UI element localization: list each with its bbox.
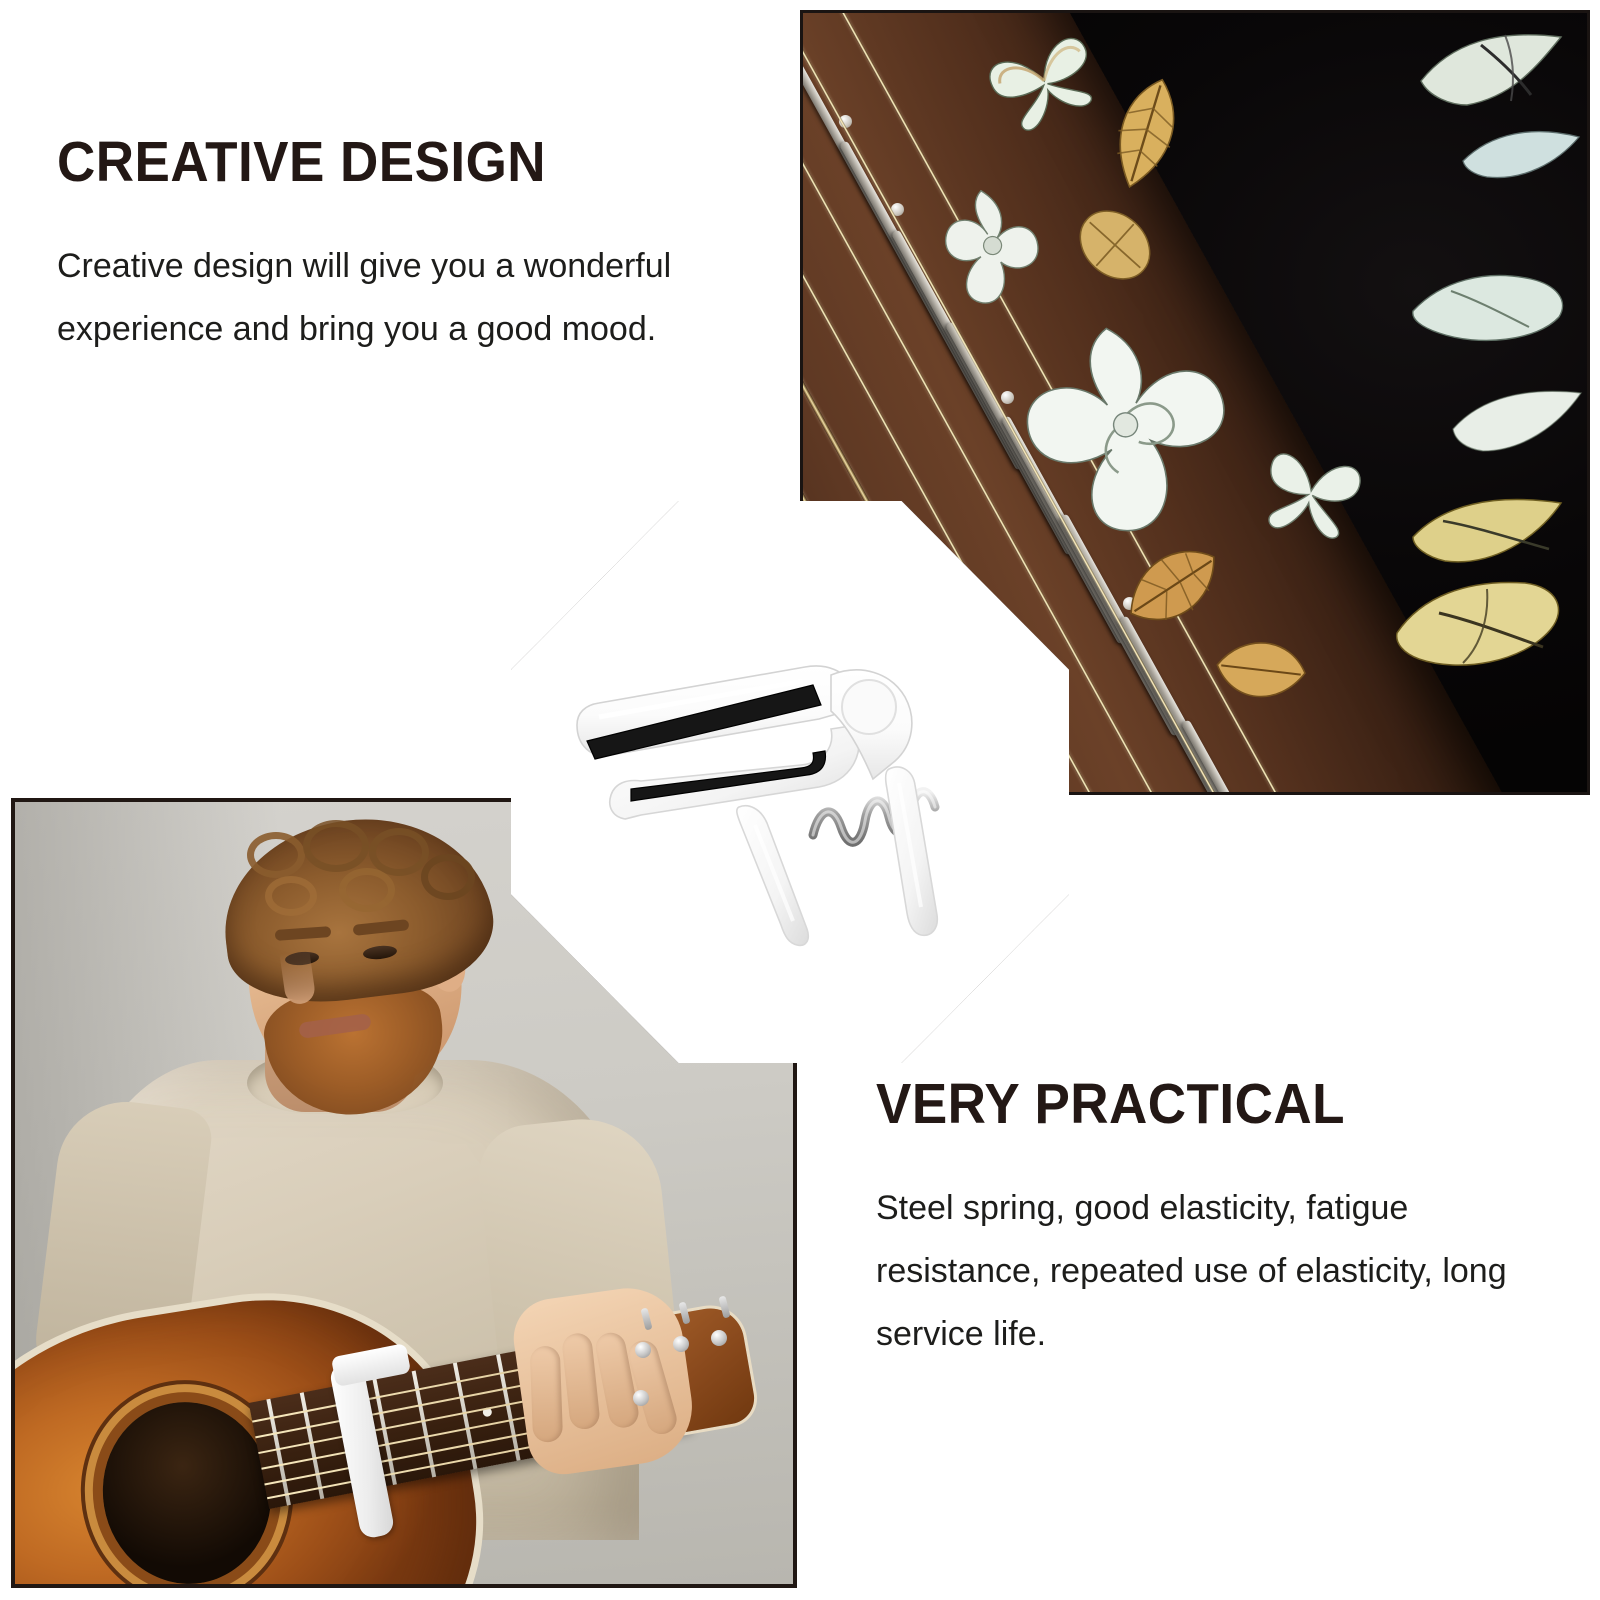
tuning-peg: [633, 1390, 649, 1406]
eye: [284, 951, 319, 967]
fret: [412, 1371, 437, 1478]
finger: [625, 1337, 680, 1438]
fret: [300, 1392, 325, 1499]
guitar-headstock: [604, 1303, 758, 1443]
tuning-machine-post: [718, 1295, 730, 1318]
fret: [1119, 615, 1355, 795]
hair-curl: [247, 832, 305, 878]
butterfly-inlay-sticker: [1248, 423, 1374, 560]
capo-highlight: [899, 783, 921, 907]
tuning-machine-post: [678, 1301, 690, 1324]
fret: [588, 1336, 613, 1443]
acoustic-guitar-body: [11, 1267, 510, 1588]
fret: [1181, 719, 1417, 795]
guitar-string: [258, 1370, 680, 1454]
side-position-dot: [1001, 391, 1014, 404]
fret: [372, 1378, 397, 1485]
fret: [1059, 513, 1295, 795]
head: [229, 829, 477, 1107]
fret: [266, 1399, 291, 1506]
side-position-dot: [1123, 597, 1136, 610]
nose: [280, 950, 317, 1006]
fret: [453, 1363, 478, 1470]
fretting-hand: [509, 1281, 700, 1479]
hair-curl: [339, 868, 395, 912]
floating-inlay-sticker: [1451, 385, 1585, 457]
fret: [541, 1345, 566, 1452]
capo-highlight: [599, 681, 803, 717]
beige-tshirt-torso: [79, 1060, 639, 1540]
ear: [425, 937, 469, 994]
product-feature-page: CREATIVE DESIGN Creative design will giv…: [0, 0, 1600, 1600]
floating-inlay-sticker: [1461, 125, 1581, 183]
capo-right-handle: [886, 767, 938, 935]
flower-inlay-sticker: [925, 171, 1065, 322]
floating-inlay-sticker: [1391, 575, 1567, 673]
creative-design-heading: CREATIVE DESIGN: [57, 133, 634, 193]
eye: [362, 944, 397, 960]
floating-inlay-sticker: [1409, 491, 1567, 571]
leaf-inlay-sticker: [1083, 62, 1208, 205]
tuning-peg: [635, 1342, 651, 1358]
very-practical-text-block: VERY PRACTICAL Steel spring, good elasti…: [876, 1075, 1516, 1366]
capo-highlight: [755, 825, 793, 921]
right-sleeve: [474, 1111, 688, 1458]
curly-hair: [213, 804, 501, 1013]
guitar-string: [252, 1339, 674, 1423]
guitar-soundhole: [90, 1390, 284, 1588]
floating-inlay-sticker: [1409, 263, 1569, 347]
capo-hinge-body: [831, 670, 912, 779]
lips: [298, 1013, 372, 1039]
leaf-inlay-sticker: [1208, 625, 1314, 716]
capo-left-handle: [737, 806, 808, 946]
leaf-inlay-sticker: [1061, 191, 1169, 298]
capo-lower-jaw: [610, 725, 859, 819]
floating-inlay-sticker: [1415, 27, 1565, 111]
guitar-string: [267, 1415, 689, 1499]
guitar-capo-product-illustration: [569, 629, 999, 949]
capo-lever-arm: [331, 1343, 411, 1387]
hair-curl: [303, 820, 369, 872]
tuning-peg: [673, 1336, 689, 1352]
side-position-dot: [839, 115, 852, 128]
tshirt-collar: [247, 1052, 443, 1114]
creative-design-body: Creative design will give you a wonderfu…: [57, 235, 677, 361]
side-position-dot: [891, 203, 904, 216]
guitar-body-binding: [11, 1262, 515, 1588]
fretboard-position-dot: [482, 1407, 493, 1418]
guitar-string: [255, 1354, 677, 1438]
finger: [530, 1346, 563, 1443]
beard: [259, 976, 453, 1126]
finger: [561, 1332, 601, 1431]
hair-curl: [369, 828, 429, 876]
octagon-border: [511, 501, 1069, 1063]
capo-mounted-on-guitar-neck: [329, 1360, 396, 1539]
finger: [593, 1330, 641, 1430]
fretboard-position-dot: [362, 1430, 373, 1441]
guitar-string: [264, 1401, 686, 1485]
fret: [839, 140, 1075, 555]
leaf-inlay-sticker: [1104, 521, 1241, 651]
wall-shadow: [15, 802, 280, 1584]
butterfly-inlay-sticker: [971, 14, 1116, 142]
fret: [800, 55, 1025, 470]
capo-upper-jaw: [577, 666, 861, 756]
capo-product-octagon: [511, 501, 1069, 1063]
tuning-machine-post: [640, 1307, 652, 1330]
fret: [335, 1385, 360, 1492]
hair-curl: [421, 854, 475, 900]
capo-pivot-circle: [842, 680, 896, 734]
fret: [637, 1327, 662, 1434]
strumming-hand: [46, 1306, 230, 1498]
guitar-fretboard: [249, 1321, 692, 1509]
creative-design-text-block: CREATIVE DESIGN Creative design will giv…: [57, 133, 677, 361]
very-practical-body: Steel spring, good elasticity, fatigue r…: [876, 1177, 1516, 1366]
octagon-white-background: [511, 501, 1069, 1063]
neck-skin: [265, 1002, 415, 1112]
left-sleeve: [29, 1094, 214, 1410]
eyebrow: [275, 926, 332, 941]
capo-upper-rubber-pad: [587, 685, 821, 759]
fretboard-position-dot: [572, 1389, 583, 1400]
hair-curl: [265, 876, 317, 916]
soundhole-rosette: [76, 1376, 298, 1588]
very-practical-heading: VERY PRACTICAL: [876, 1075, 1471, 1135]
guitar-string: [261, 1386, 683, 1470]
tuning-peg: [711, 1330, 727, 1346]
capo-steel-spring: [813, 792, 935, 843]
capo-lower-rubber-pad: [631, 751, 825, 801]
fret: [496, 1354, 521, 1461]
eyebrow: [353, 919, 410, 936]
